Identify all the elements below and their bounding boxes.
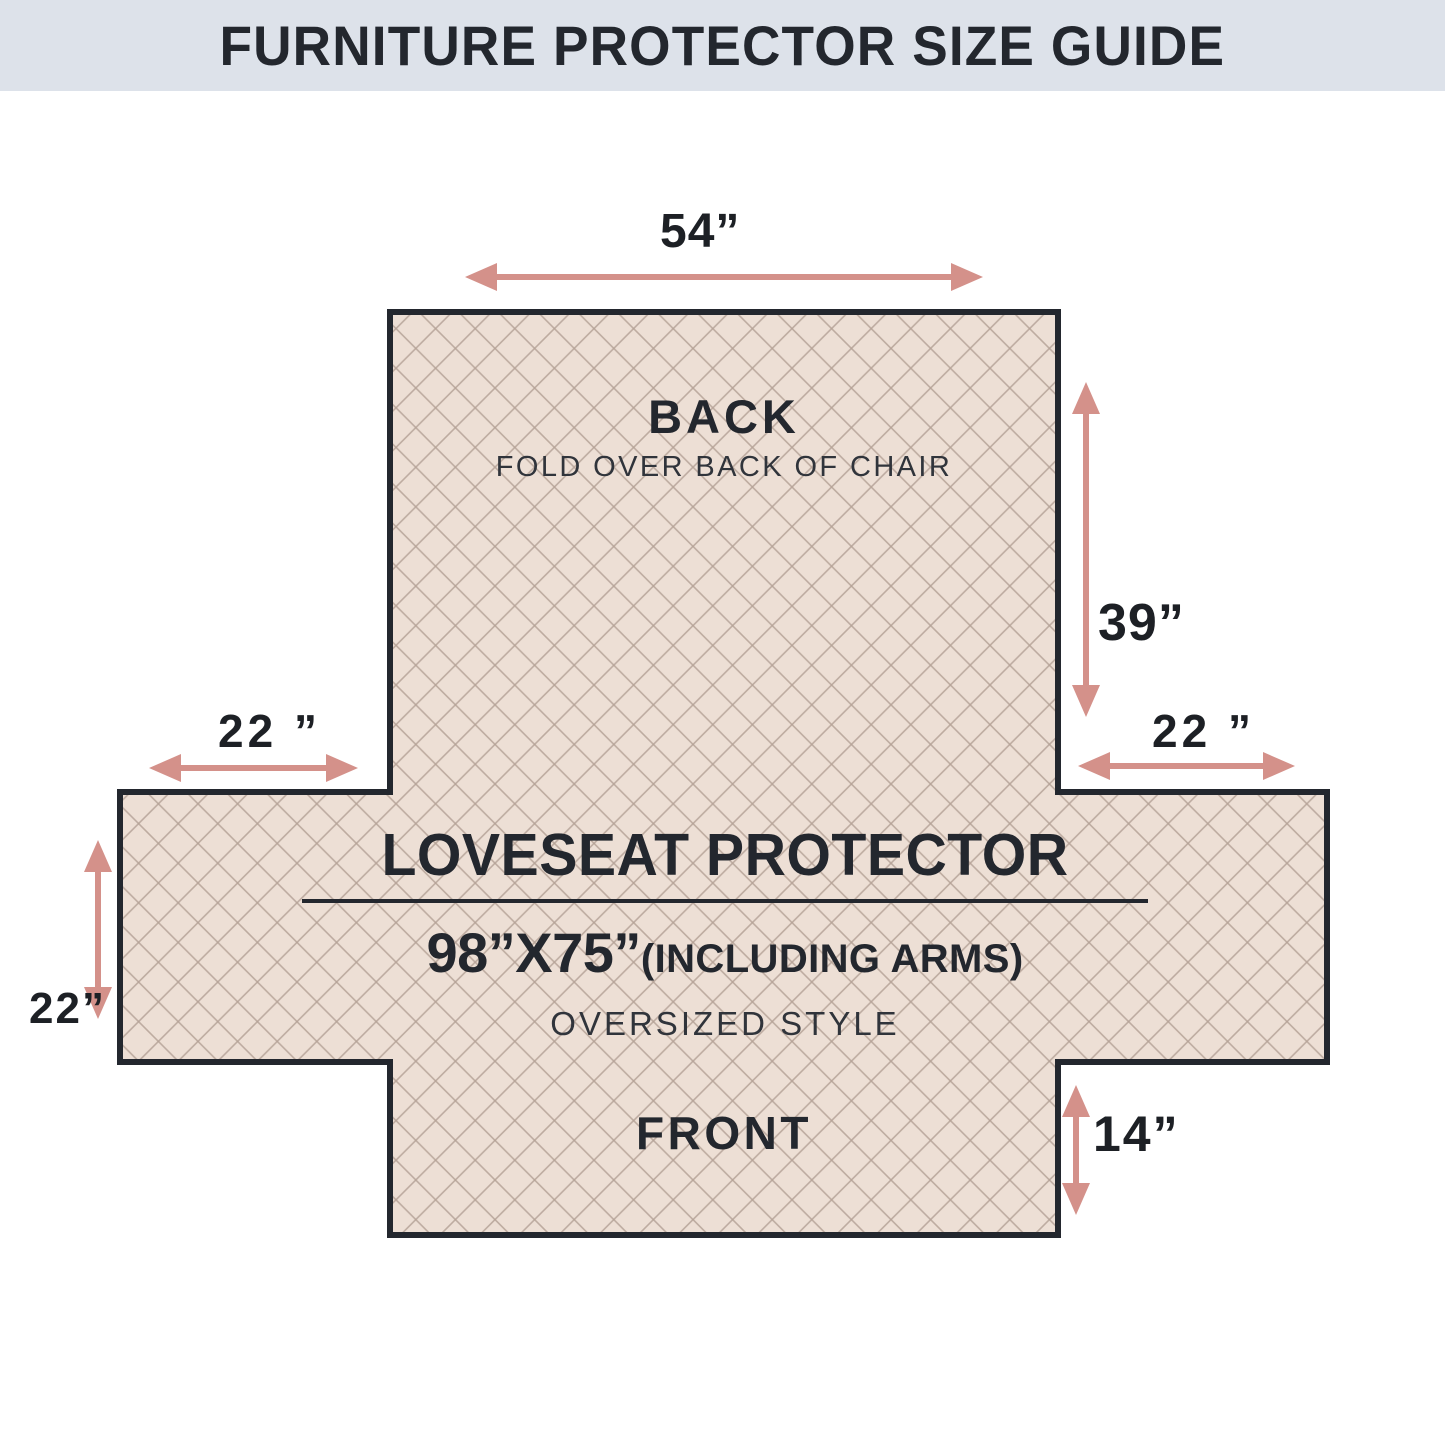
product-dimensions: 98”X75” <box>426 921 640 984</box>
diagram-stage: BACK FOLD OVER BACK OF CHAIR LOVESEAT PR… <box>0 91 1445 1445</box>
protector-shape-svg <box>0 91 1445 1445</box>
page-title: FURNITURE PROTECTOR SIZE GUIDE <box>220 18 1226 74</box>
product-dimensions-line: 98”X75”(INCLUDING ARMS) <box>290 925 1160 981</box>
dimension-label-back-height: 39” <box>1098 597 1185 649</box>
product-dimensions-note: (INCLUDING ARMS) <box>641 937 1024 981</box>
dimension-arrow-39 <box>1072 382 1100 717</box>
dimension-label-left-arm-width: 22 ” <box>218 708 321 754</box>
dimension-label-arm-height: 22” <box>29 987 106 1031</box>
front-panel-label: FRONT <box>390 1110 1058 1156</box>
title-divider <box>302 899 1148 903</box>
product-info-block: LOVESEAT PROTECTOR 98”X75”(INCLUDING ARM… <box>290 826 1160 1040</box>
back-panel-sublabel: FOLD OVER BACK OF CHAIR <box>390 453 1058 482</box>
dimension-label-top-width: 54” <box>660 208 740 256</box>
dimension-arrow-54 <box>465 263 983 291</box>
product-style-note: OVERSIZED STYLE <box>290 1007 1160 1040</box>
dimension-arrow-22-left <box>149 754 358 782</box>
dimension-label-front-skirt: 14” <box>1093 1109 1180 1159</box>
dimension-arrow-14 <box>1062 1085 1090 1215</box>
back-panel-label: BACK <box>390 393 1058 440</box>
header-band: FURNITURE PROTECTOR SIZE GUIDE <box>0 0 1445 91</box>
product-name: LOVESEAT PROTECTOR <box>303 826 1147 885</box>
dimension-label-right-arm-width: 22 ” <box>1152 708 1255 754</box>
